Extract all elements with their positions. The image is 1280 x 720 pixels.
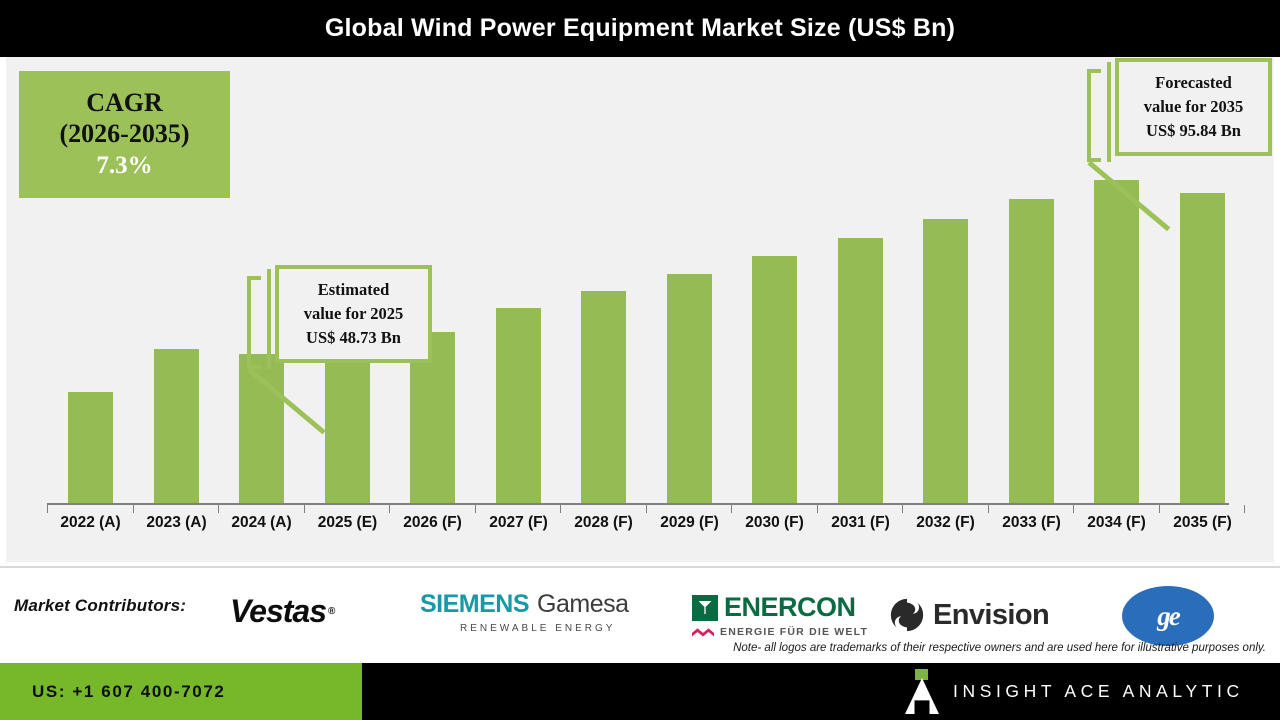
footer-phone[interactable]: US: +1 607 400-7072 (32, 682, 225, 702)
callout-line-1: Forecasted (1155, 71, 1232, 95)
trademark-note: Note- all logos are trademarks of their … (733, 642, 1266, 654)
infographic-page: Global Wind Power Equipment Market Size … (0, 0, 1280, 720)
header-bar: Global Wind Power Equipment Market Size … (0, 0, 1280, 57)
logo-square-accent (915, 669, 928, 680)
x-axis-tick (1159, 505, 1160, 513)
x-axis-tick (817, 505, 818, 513)
x-axis-tick (560, 505, 561, 513)
x-axis-tick (731, 505, 732, 513)
footer-brand-block: INSIGHT ACE ANALYTIC (905, 663, 1244, 720)
x-axis-tick (47, 505, 48, 513)
contributors-label: Market Contributors: (14, 596, 186, 616)
ge-monogram-text: ge (1157, 601, 1178, 632)
vestas-wordmark: Vestas (230, 593, 326, 630)
enercon-wordmark-row: ENERCON (692, 592, 856, 623)
envision-logo: Envision (888, 596, 1049, 634)
callout-box: Estimated value for 2025 US$ 48.73 Bn (275, 265, 432, 363)
x-axis-line (47, 503, 1229, 505)
bar-2034F (1094, 180, 1139, 503)
bar-2023A (154, 349, 199, 503)
x-axis-label: 2031 (F) (818, 512, 903, 534)
bar-2033F (1009, 199, 1054, 503)
x-axis-tick (1073, 505, 1074, 513)
callout-bracket-inner (1107, 62, 1111, 162)
envision-wordmark: Envision (933, 599, 1049, 632)
x-axis-tick (304, 505, 305, 513)
callout-line-2: value for 2025 (304, 302, 404, 326)
x-axis-label: 2033 (F) (989, 512, 1074, 534)
x-axis-label: 2022 (A) (48, 512, 133, 534)
x-axis-label: 2025 (E) (305, 512, 390, 534)
callout-line-1: Estimated (318, 278, 390, 302)
general-electric-logo: ge (1122, 586, 1214, 646)
callout-box: Forecasted value for 2035 US$ 95.84 Bn (1115, 58, 1272, 156)
x-axis-tick (389, 505, 390, 513)
x-axis-label: 2024 (A) (219, 512, 304, 534)
market-contributors-strip: Market Contributors: Vestas® SIEMENS Gam… (0, 566, 1280, 664)
insight-ace-logo-icon (905, 669, 939, 714)
gamesa-wordmark: Gamesa (537, 590, 628, 619)
bar-2030F (752, 256, 797, 503)
footer-contact-block: US: +1 607 400-7072 (0, 663, 362, 720)
logo-letter-a (905, 678, 939, 714)
x-axis-label: 2029 (F) (647, 512, 732, 534)
x-axis-label: 2034 (F) (1074, 512, 1159, 534)
siemens-gamesa-logo: SIEMENS Gamesa RENEWABLE ENERGY (420, 590, 629, 634)
registered-trademark-icon: ® (328, 606, 334, 617)
x-axis-label: 2026 (F) (390, 512, 475, 534)
x-axis-tick (988, 505, 989, 513)
siemens-gamesa-wordmark: SIEMENS Gamesa (420, 590, 629, 619)
bar-2028F (581, 291, 626, 503)
enercon-tagline: ENERGIE FÜR DIE WELT (720, 626, 868, 638)
enercon-tagline-row: ENERGIE FÜR DIE WELT (692, 626, 868, 638)
enercon-mark-icon (692, 595, 718, 621)
siemens-wordmark: SIEMENS (420, 590, 529, 619)
callout-bracket-outer (247, 276, 261, 369)
x-axis-label: 2035 (F) (1160, 512, 1245, 534)
bar-2035F (1180, 193, 1225, 503)
x-axis-label: 2027 (F) (476, 512, 561, 534)
bar-2029F (667, 274, 712, 503)
bar-2022A (68, 392, 113, 503)
footer-brand-name: INSIGHT ACE ANALYTIC (953, 681, 1244, 702)
x-axis-tick (902, 505, 903, 513)
x-axis-tick (133, 505, 134, 513)
plot-area: 2022 (A)2023 (A)2024 (A)2025 (E)2026 (F)… (6, 57, 1274, 562)
callout-bracket-outer (1087, 69, 1101, 162)
callout-line-3: US$ 48.73 Bn (306, 326, 401, 350)
x-axis-tick (475, 505, 476, 513)
bar-2025E (325, 346, 370, 503)
bar-2032F (923, 219, 968, 503)
x-axis-label: 2028 (F) (561, 512, 646, 534)
enercon-logo: ENERCON ENERGIE FÜR DIE WELT (692, 592, 868, 638)
x-axis-label: 2032 (F) (903, 512, 988, 534)
callout-line-3: US$ 95.84 Bn (1146, 119, 1241, 143)
vestas-logo: Vestas® (230, 593, 334, 630)
enercon-wave-icon (692, 628, 714, 637)
chart-panel: CAGR (2026-2035) 7.3% 2022 (A)2023 (A)20… (6, 57, 1274, 562)
x-axis-tick (218, 505, 219, 513)
bar-2027F (496, 308, 541, 503)
envision-swirl-icon (888, 596, 926, 634)
siemens-gamesa-tagline: RENEWABLE ENERGY (460, 623, 615, 634)
enercon-wordmark: ENERCON (724, 592, 856, 623)
x-axis-label: 2030 (F) (732, 512, 817, 534)
callout-line-2: value for 2035 (1144, 95, 1244, 119)
x-axis-tick (646, 505, 647, 513)
x-axis-label: 2023 (A) (134, 512, 219, 534)
footer-bar: US: +1 607 400-7072 INSIGHT ACE ANALYTIC (0, 663, 1280, 720)
page-title: Global Wind Power Equipment Market Size … (0, 0, 1280, 57)
callout-bracket-inner (267, 269, 271, 369)
bar-2031F (838, 238, 883, 503)
ge-monogram-icon: ge (1122, 586, 1214, 646)
x-axis-tick (1244, 505, 1245, 513)
